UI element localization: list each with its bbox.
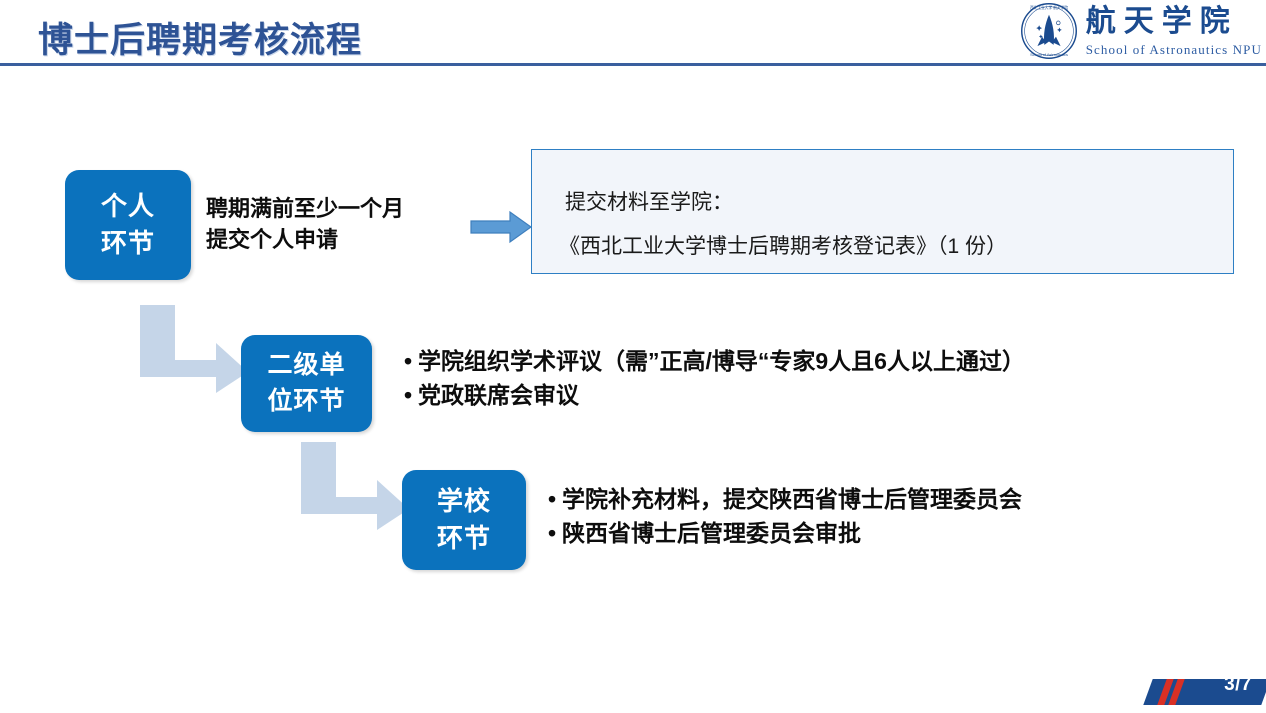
list-item-text: 党政联席会审议 xyxy=(418,382,579,408)
npu-school-of-astronautics-seal-icon: 西北工业大学 航天学院 School of Astronautics xyxy=(1020,2,1078,60)
logo-wordmark: 航天学院 School of Astronautics NPU xyxy=(1086,7,1262,56)
list-item-text: 陕西省博士后管理委员会审批 xyxy=(562,520,861,546)
list-item: •陕西省博士后管理委员会审批 xyxy=(548,516,1022,550)
flow-stage-personal: 个人 环节 xyxy=(65,170,191,280)
submission-note-box: 提交材料至学院： 《西北工业大学博士后聘期考核登记表》（1 份） xyxy=(531,149,1234,274)
institution-logo: 西北工业大学 航天学院 School of Astronautics 航天学院 … xyxy=(1020,2,1262,60)
note-line-1: 提交材料至学院： xyxy=(565,186,733,216)
page-number-label: 3/7 xyxy=(1224,674,1252,696)
stage-personal-caption: 聘期满前至少一个月 提交个人申请 xyxy=(206,193,404,255)
logo-chinese-name: 航天学院 xyxy=(1086,7,1262,37)
stage-secondary-unit-bullets: •学院组织学术评议（需”正高/博导“专家9人且6人以上通过） •党政联席会审议 xyxy=(404,344,1025,412)
list-item: •党政联席会审议 xyxy=(404,378,1025,412)
note-line-2: 《西北工业大学博士后聘期考核登记表》（1 份） xyxy=(559,230,1007,260)
logo-english-name: School of Astronautics NPU xyxy=(1086,43,1262,56)
bullet-marker: • xyxy=(548,482,562,516)
list-item-text: 学院组织学术评议（需”正高/博导“专家9人且6人以上通过） xyxy=(418,348,1025,374)
page-number-badge: 3/7 xyxy=(1148,679,1266,705)
stage-label-line-2: 环节 xyxy=(101,225,155,262)
list-item-text: 学院补充材料，提交陕西省博士后管理委员会 xyxy=(562,486,1022,512)
svg-text:西北工业大学 航天学院: 西北工业大学 航天学院 xyxy=(1030,5,1068,10)
stage-label-line-1: 学校 xyxy=(437,483,491,520)
bullet-marker: • xyxy=(548,516,562,550)
stage-label-line-2: 位环节 xyxy=(267,384,345,420)
stage-label-line-1: 个人 xyxy=(101,188,155,225)
list-item: •学院组织学术评议（需”正高/博导“专家9人且6人以上通过） xyxy=(404,344,1025,378)
bullet-marker: • xyxy=(404,344,418,378)
elbow-arrow-down-right-icon xyxy=(138,303,250,395)
right-arrow-icon xyxy=(470,210,532,244)
stage-label-line-1: 二级单 xyxy=(267,348,345,384)
slide-canvas: 博士后聘期考核流程 西北工业大学 航天学院 School of Astronau… xyxy=(0,0,1266,713)
header-divider xyxy=(0,63,1266,66)
list-item: •学院补充材料，提交陕西省博士后管理委员会 xyxy=(548,482,1022,516)
stage-personal-caption-line-1: 聘期满前至少一个月 xyxy=(206,193,404,224)
stage-personal-caption-line-2: 提交个人申请 xyxy=(206,224,404,255)
flow-stage-secondary-unit: 二级单 位环节 xyxy=(241,335,372,432)
page-title: 博士后聘期考核流程 xyxy=(38,12,362,63)
stage-label-line-2: 环节 xyxy=(437,520,491,557)
svg-text:School of Astronautics: School of Astronautics xyxy=(1030,53,1068,57)
elbow-arrow-down-right-icon xyxy=(299,440,411,532)
stage-university-bullets: •学院补充材料，提交陕西省博士后管理委员会 •陕西省博士后管理委员会审批 xyxy=(548,482,1022,550)
flow-stage-university: 学校 环节 xyxy=(402,470,526,570)
bullet-marker: • xyxy=(404,378,418,412)
